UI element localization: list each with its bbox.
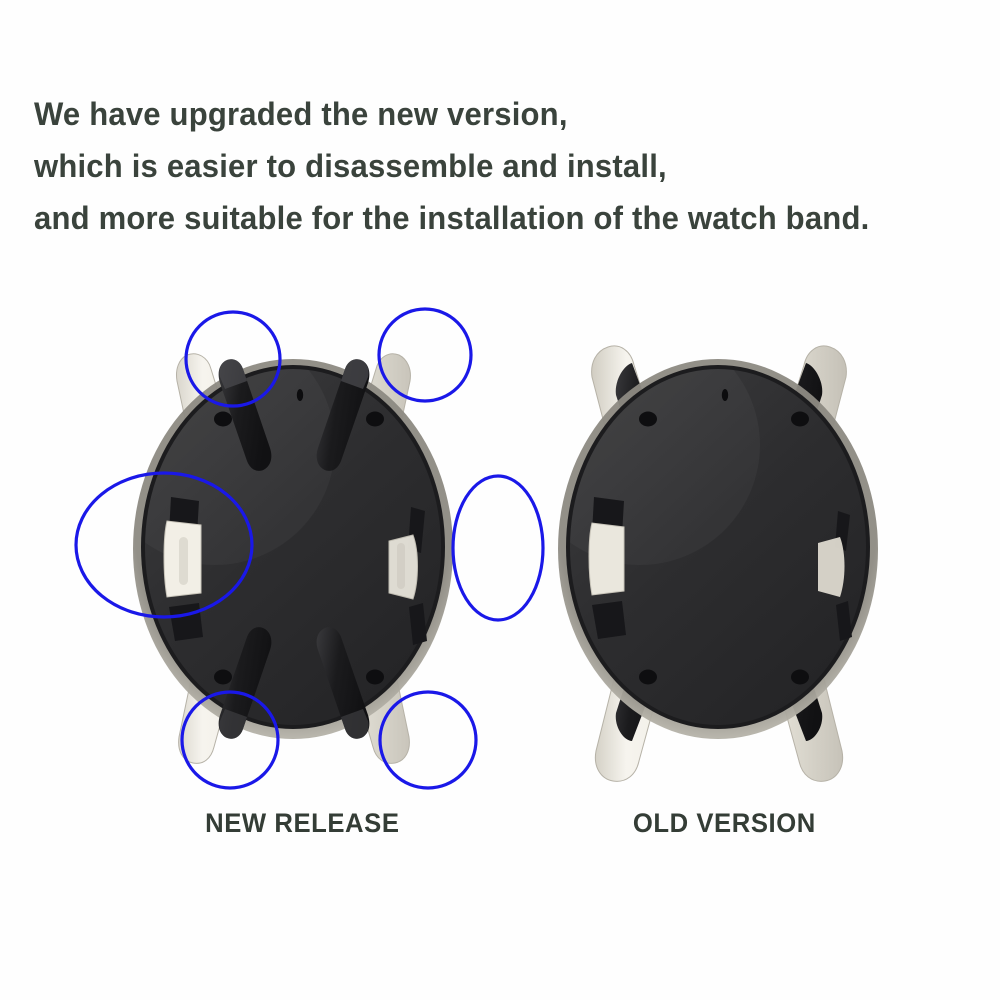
page-title: We have upgraded the new version, which … — [34, 88, 974, 244]
comparison-figures — [0, 285, 1000, 845]
headline-line-2: which is easier to disassemble and insta… — [34, 140, 946, 192]
headline-line-1: We have upgraded the new version, — [34, 88, 946, 140]
new-release-watch-case — [75, 285, 505, 845]
product-comparison-image: We have upgraded the new version, which … — [0, 0, 1000, 1000]
new-release-illustration — [75, 285, 505, 805]
caption-old-version: OLD VERSION — [633, 808, 816, 839]
headline-line-3: and more suitable for the installation o… — [34, 192, 946, 244]
old-version-watch-case — [520, 285, 950, 845]
caption-new-release: NEW RELEASE — [205, 808, 399, 839]
microphone-dot-icon — [297, 389, 303, 401]
microphone-dot-icon — [722, 389, 728, 401]
old-version-illustration — [520, 285, 950, 805]
